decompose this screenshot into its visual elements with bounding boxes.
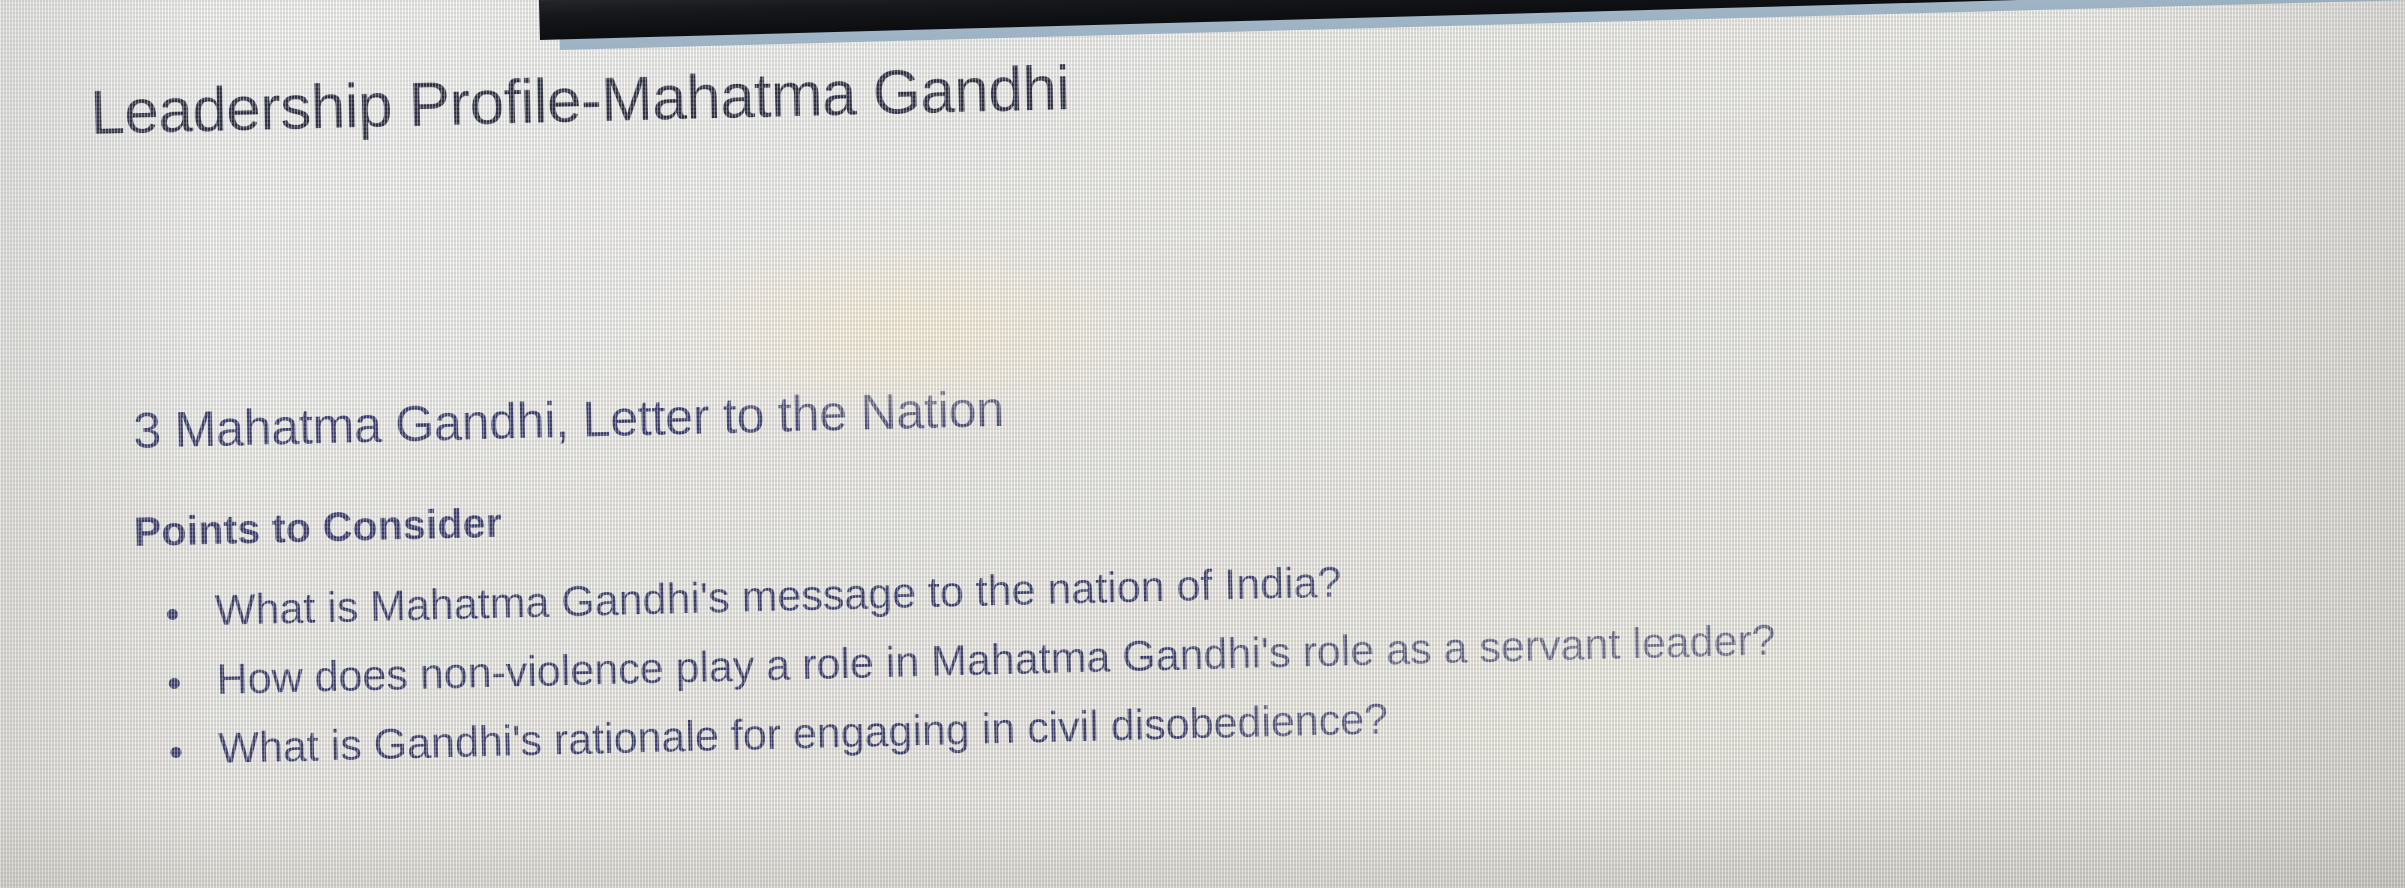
points-to-consider-list: What is Mahatma Gandhi's message to the … xyxy=(152,545,1778,793)
document-page: Leadership Profile-Mahatma Gandhi 3 Maha… xyxy=(0,0,2405,888)
section-heading: 3 Mahatma Gandhi, Letter to the Nation xyxy=(133,380,1005,460)
bullet-dot-icon xyxy=(169,678,180,689)
monitor-photo: Leadership Profile-Mahatma Gandhi 3 Maha… xyxy=(0,0,2405,888)
bullet-dot-icon xyxy=(170,747,181,758)
list-item-text: What is Gandhi's rationale for engaging … xyxy=(218,695,1389,773)
list-item-text: What is Mahatma Gandhi's message to the … xyxy=(214,558,1342,634)
points-to-consider-label: Points to Consider xyxy=(133,500,502,556)
page-title: Leadership Profile-Mahatma Gandhi xyxy=(89,53,1070,149)
bullet-dot-icon xyxy=(167,609,178,620)
